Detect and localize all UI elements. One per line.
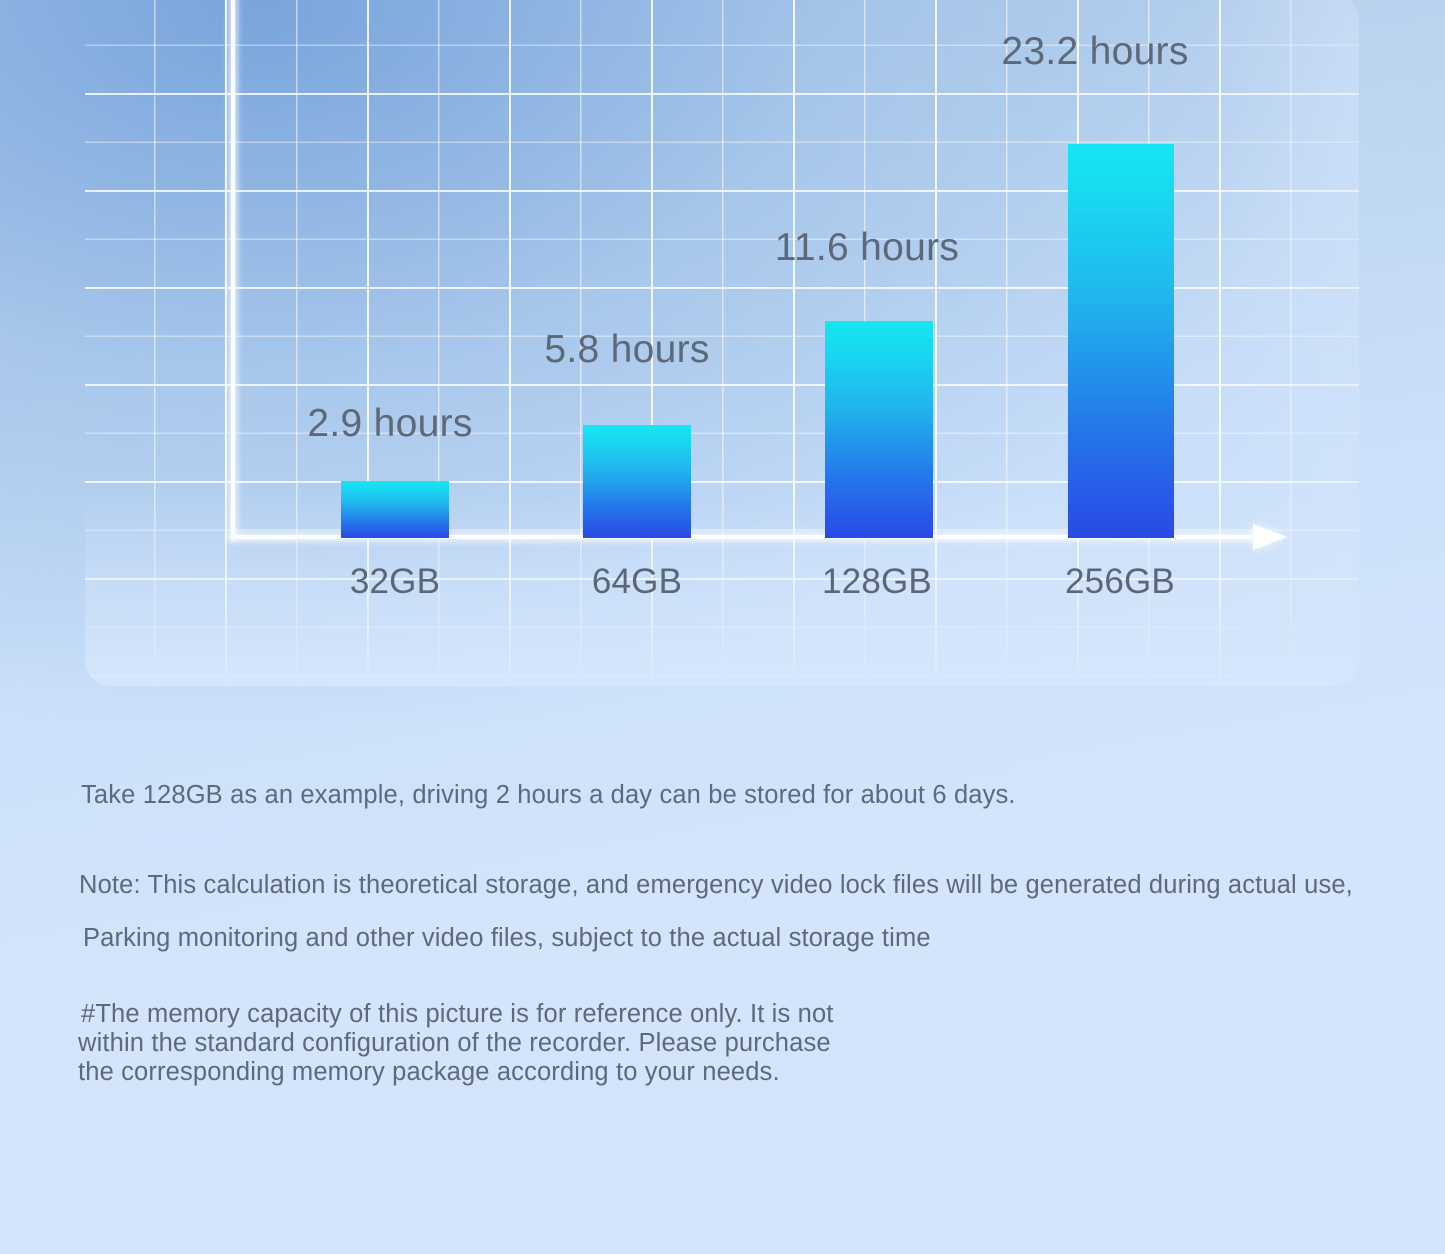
category-label-256gb: 256GB [1000,562,1240,602]
caption-note: Note: This calculation is theoretical st… [79,871,1353,900]
caption-reference-line-2: within the standard configuration of the… [78,1029,831,1058]
value-label-256gb: 23.2 hours [965,30,1225,74]
caption-reference-line-1: #The memory capacity of this picture is … [81,1000,834,1029]
y-axis-line [231,0,235,540]
caption-example: Take 128GB as an example, driving 2 hour… [81,781,1016,810]
category-label-64gb: 64GB [517,562,757,602]
bar-256gb [1068,144,1174,538]
bar-32gb [341,481,449,538]
caption-reference-line-3: the corresponding memory package accordi… [78,1058,780,1087]
bar-128gb [825,321,933,538]
x-axis-arrow-icon [1253,524,1287,550]
category-label-128gb: 128GB [757,562,997,602]
bar-64gb [583,425,691,538]
category-label-32gb: 32GB [275,562,515,602]
storage-duration-infographic: 2.9 hours 5.8 hours 11.6 hours 23.2 hour… [0,0,1445,1254]
value-label-32gb: 2.9 hours [265,402,515,446]
value-label-64gb: 5.8 hours [502,328,752,372]
caption-parking: Parking monitoring and other video files… [83,924,931,953]
value-label-128gb: 11.6 hours [737,226,997,270]
